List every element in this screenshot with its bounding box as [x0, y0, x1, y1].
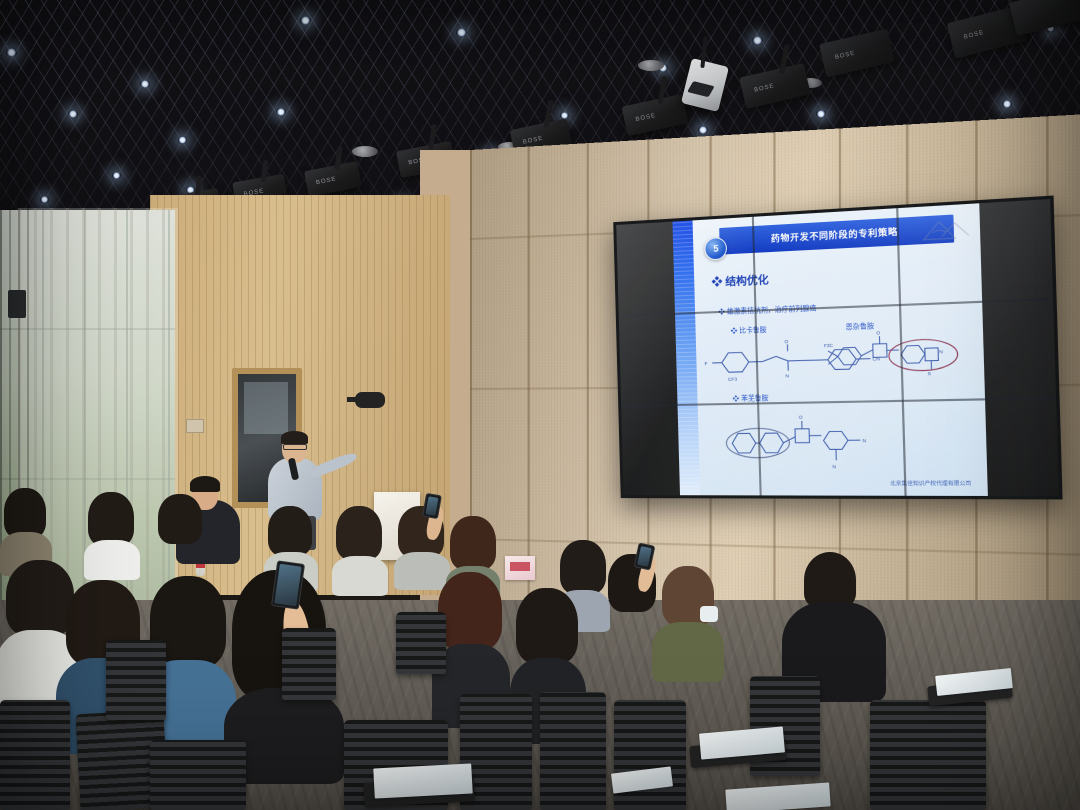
ceiling-spotlight [276, 108, 286, 116]
ceiling-dome-light [352, 146, 378, 157]
company-logo-watermark [920, 216, 970, 244]
heading-bullet-marker: ❖ [711, 276, 722, 289]
attendee-hair [450, 516, 496, 570]
ceiling-spotlight [6, 48, 17, 57]
video-wall-right-dark-panel [980, 199, 1059, 496]
chair-back [614, 700, 686, 810]
attendee-hair [190, 476, 220, 492]
ceiling-spotlight [140, 80, 150, 88]
presentation-slide: 药物开发不同阶段的专利策略 5 ❖ 结构优化 ❖ 雄激素拮抗剂，治疗前列腺癌 ❖… [672, 203, 988, 496]
ceiling-spotlight [68, 110, 78, 118]
ceiling-spotlight [816, 110, 826, 118]
attendee-torso [84, 540, 140, 580]
chair[interactable] [396, 612, 446, 674]
chair[interactable] [150, 740, 246, 810]
wall-camera [355, 392, 385, 408]
attendee-hair [158, 494, 202, 544]
attendee [0, 488, 54, 564]
svg-text:N: N [833, 464, 837, 469]
chair-back [150, 740, 246, 810]
ceiling-dome-light [638, 60, 664, 71]
presenter-glasses [283, 444, 307, 450]
slide-header-title: 药物开发不同阶段的专利策略 [771, 225, 898, 245]
svg-text:S: S [928, 371, 932, 377]
face-mask [700, 606, 718, 622]
notes-paper [373, 763, 472, 798]
chair-back [106, 640, 166, 720]
attendee-with-phone [604, 540, 664, 632]
ceiling-spotlight [456, 28, 467, 37]
chair[interactable] [614, 700, 686, 810]
attendee-hair [560, 540, 606, 594]
speaker-brand-label: BOSE [754, 84, 776, 94]
chemical-structure-enzalutamide: F3CO SN [824, 321, 965, 388]
ceiling-spotlight [300, 16, 311, 25]
speaker-brand-label: BOSE [522, 135, 543, 145]
chair-back [282, 628, 336, 700]
attendee-hair [516, 588, 578, 664]
attendee-head [804, 552, 856, 608]
speaker-brand-label: BOSE [635, 112, 656, 122]
attendee [154, 494, 208, 566]
chair[interactable] [540, 692, 606, 810]
svg-text:O: O [785, 339, 789, 344]
speaker-brand-label: BOSE [316, 176, 337, 186]
chair-back [0, 700, 70, 810]
lecture-hall-photo: BOSE BOSE BOSE BOSE BOSE BOSE BOSE BOSE … [0, 0, 1080, 810]
lcd-video-wall[interactable]: 药物开发不同阶段的专利策略 5 ❖ 结构优化 ❖ 雄激素拮抗剂，治疗前列腺癌 ❖… [613, 196, 1062, 500]
attendee [84, 492, 140, 570]
attendee-hair [88, 492, 134, 546]
wall-control-panel [186, 419, 204, 433]
slide-footer-company: 北京集佳知识产权代理有限公司 [890, 480, 972, 488]
heading-text: 结构优化 [725, 274, 769, 288]
chair-back [396, 612, 446, 674]
chair[interactable] [0, 700, 70, 810]
chemical-structure-lower: ON N [712, 407, 884, 476]
video-wall-left-dark-panel [616, 222, 679, 496]
svg-text:F3C: F3C [824, 343, 834, 349]
attendee-hair [4, 488, 46, 538]
speaker-brand-label: BOSE [835, 51, 857, 61]
ceiling-spotlight [40, 196, 49, 203]
ceiling-spotlight [112, 172, 121, 179]
slide-section-number: 5 [713, 243, 718, 253]
attendee [656, 566, 722, 666]
speaker-brand-label: BOSE [963, 30, 985, 41]
attendee-torso [652, 622, 724, 682]
slide-bullet-2: ❖ 比卡鲁胺 [730, 324, 766, 336]
wall-speaker [8, 290, 26, 318]
svg-text:O: O [799, 415, 803, 420]
svg-text:N: N [940, 349, 944, 355]
svg-text:N: N [786, 373, 790, 378]
chair-back [540, 692, 606, 810]
ceiling-spotlight [752, 36, 763, 45]
chair[interactable] [282, 628, 336, 700]
svg-text:CF3: CF3 [728, 376, 738, 381]
ceiling-spotlight [178, 136, 187, 144]
ceiling-spotlight [1002, 100, 1012, 108]
svg-text:N: N [862, 438, 866, 443]
ceiling-spotlight [698, 126, 708, 134]
presenter-hair [281, 431, 308, 444]
chair[interactable] [870, 700, 986, 810]
svg-text:O: O [877, 330, 882, 336]
attendee-hair [438, 572, 502, 650]
bullet-2-text: 比卡鲁胺 [739, 327, 767, 335]
svg-text:F: F [705, 361, 708, 366]
slide-heading: ❖ 结构优化 [711, 272, 769, 290]
chair[interactable] [106, 640, 166, 720]
chair-back [870, 700, 986, 810]
bullet-marker: ❖ [730, 328, 737, 335]
